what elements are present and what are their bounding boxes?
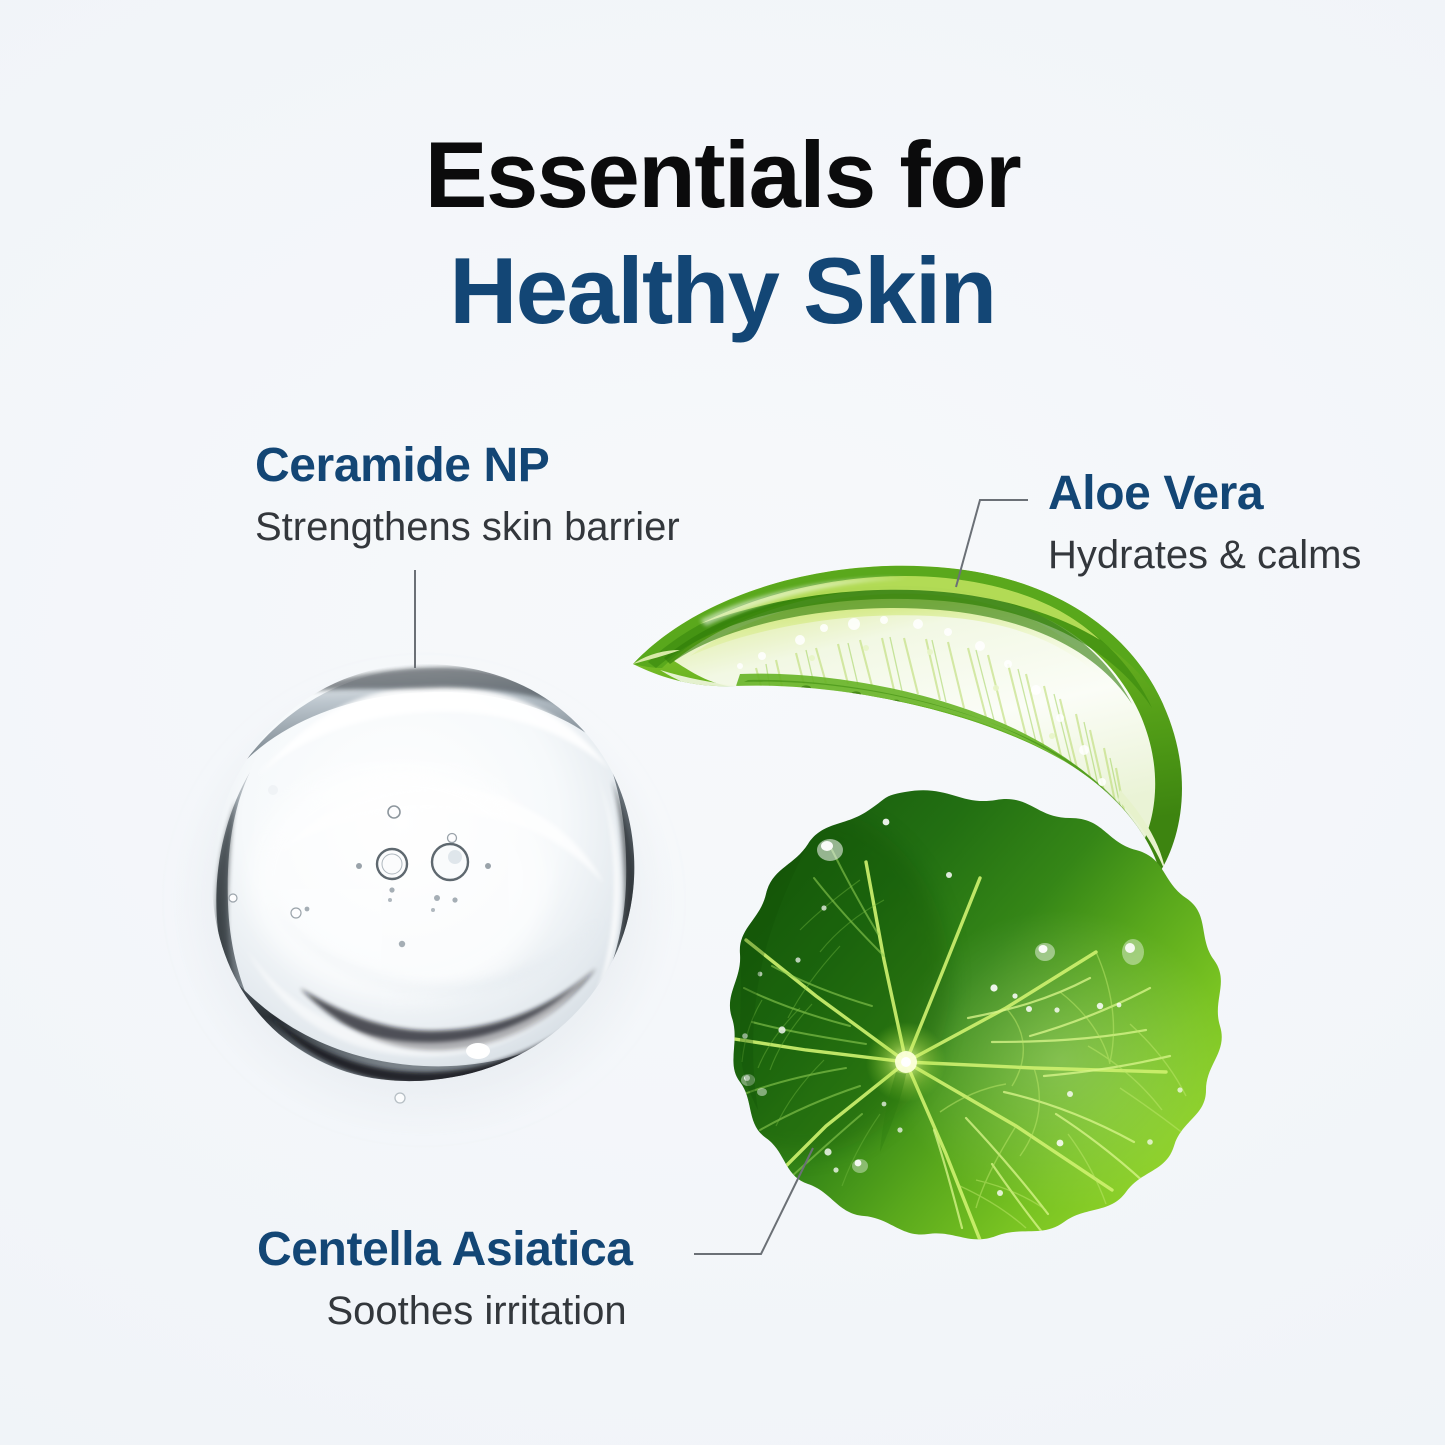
- callout-title-ceramide: Ceramide NP: [255, 440, 680, 492]
- callout-title-aloe: Aloe Vera: [1048, 468, 1361, 520]
- callout-ceramide-np: Ceramide NP Strengthens skin barrier: [255, 440, 680, 550]
- callout-desc-ceramide: Strengthens skin barrier: [255, 504, 680, 550]
- centella-leaf-image: [650, 790, 1230, 1249]
- gel-droplet-image: [174, 664, 674, 1135]
- callout-aloe-vera: Aloe Vera Hydrates & calms: [1048, 468, 1361, 578]
- infographic-canvas: Essentials for Healthy Skin Ceramide NP …: [0, 0, 1445, 1445]
- page-title: Essentials for Healthy Skin: [0, 128, 1445, 338]
- headline-line-1: Essentials for: [0, 128, 1445, 222]
- headline-line-2: Healthy Skin: [0, 244, 1445, 338]
- callout-title-centella: Centella Asiatica: [257, 1224, 633, 1276]
- callout-centella-asiatica: Centella Asiatica Soothes irritation: [257, 1224, 633, 1334]
- callout-desc-aloe: Hydrates & calms: [1048, 532, 1361, 578]
- callout-desc-centella: Soothes irritation: [257, 1288, 633, 1334]
